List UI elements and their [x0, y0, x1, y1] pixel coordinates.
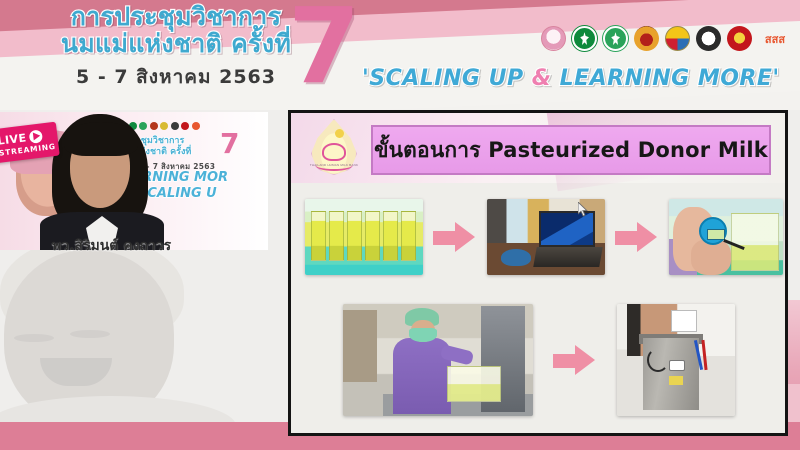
milk-bottles-racks-image — [305, 199, 423, 275]
video-poster-slogan-line2: SCALING U — [138, 186, 217, 201]
human-milk-bank-logo: THAILAND HUMAN MILK BANK — [305, 119, 363, 181]
pasteurizer-machine-image — [617, 304, 735, 416]
poster-logo-4-icon — [150, 122, 158, 130]
poster-logo-3-icon — [139, 122, 147, 130]
poster-logo-8-icon — [192, 122, 200, 130]
process-row-1 — [305, 191, 777, 283]
conference-slogan: 'SCALING UP & LEARNING MORE' — [362, 66, 792, 91]
poster-logo-6-icon — [171, 122, 179, 130]
university-emblem-logo — [665, 26, 690, 51]
background-child-watermark — [0, 246, 246, 446]
poster-logo-7-icon — [181, 122, 189, 130]
arrow-right-icon-1 — [433, 222, 477, 252]
ministry-of-public-health-logo — [572, 26, 597, 51]
pediatric-society-logo — [727, 26, 752, 51]
slogan-suffix: LEARNING MORE' — [551, 66, 779, 91]
arrow-right-icon-3 — [553, 345, 597, 375]
milk-drop-highlight — [335, 129, 344, 138]
speaker-name-caption: พว.สิริมนต์ คงถาวร — [52, 235, 272, 257]
organization-logo-strip: สสส — [541, 26, 792, 51]
conference-date: 5 - 7 สิงหาคม 2563 — [26, 62, 326, 92]
slogan-ampersand: & — [532, 66, 552, 91]
arrow-right-icon-2 — [615, 222, 659, 252]
slide-title-box: ขั้นตอนการ Pasteurized Donor Milk — [371, 125, 771, 175]
mouse-cursor — [578, 202, 589, 217]
handheld-timer-image — [669, 199, 783, 275]
slide-content-panel[interactable]: THAILAND HUMAN MILK BANK ขั้นตอนการ Past… — [288, 110, 788, 436]
nurse-handling-bottles-image — [343, 304, 533, 416]
watermark-eye-left — [14, 334, 54, 342]
presentation-stage: การประชุมวิชาการ นมแม่แห่งชาติ ครั้งที่ … — [0, 0, 800, 450]
conference-title-block: การประชุมวิชาการ นมแม่แห่งชาติ ครั้งที่ … — [26, 4, 326, 92]
slide-title: ขั้นตอนการ Pasteurized Donor Milk — [374, 134, 768, 167]
process-row-2 — [343, 295, 773, 425]
logo-ring-text: THAILAND HUMAN MILK BANK — [308, 163, 360, 179]
watermark-eye-right — [70, 330, 110, 338]
thaihealth-sss-logo: สสส — [758, 26, 792, 51]
health-department-logo — [603, 26, 628, 51]
poster-logo-5-icon — [160, 122, 168, 130]
slogan-prefix: 'SCALING UP — [362, 66, 532, 91]
conference-title-line2: นมแม่แห่งชาติ ครั้งที่ — [26, 31, 326, 57]
speaker-video-panel[interactable]: การประชุมวิชาการ นมแม่แห่งชาติ ครั้งที่ … — [0, 112, 268, 250]
royal-college-logo — [634, 26, 659, 51]
conference-header-banner: การประชุมวิชาการ นมแม่แห่งชาติ ครั้งที่ … — [0, 0, 800, 110]
conference-edition-number: 7 — [288, 0, 360, 98]
breastfeeding-foundation-logo — [541, 26, 566, 51]
video-poster-edition-number: 7 — [220, 130, 239, 158]
nursing-council-logo — [696, 26, 721, 51]
conference-title-line1: การประชุมวิชาการ — [26, 4, 326, 30]
play-icon — [29, 129, 43, 143]
speaker-bangs — [64, 122, 138, 156]
